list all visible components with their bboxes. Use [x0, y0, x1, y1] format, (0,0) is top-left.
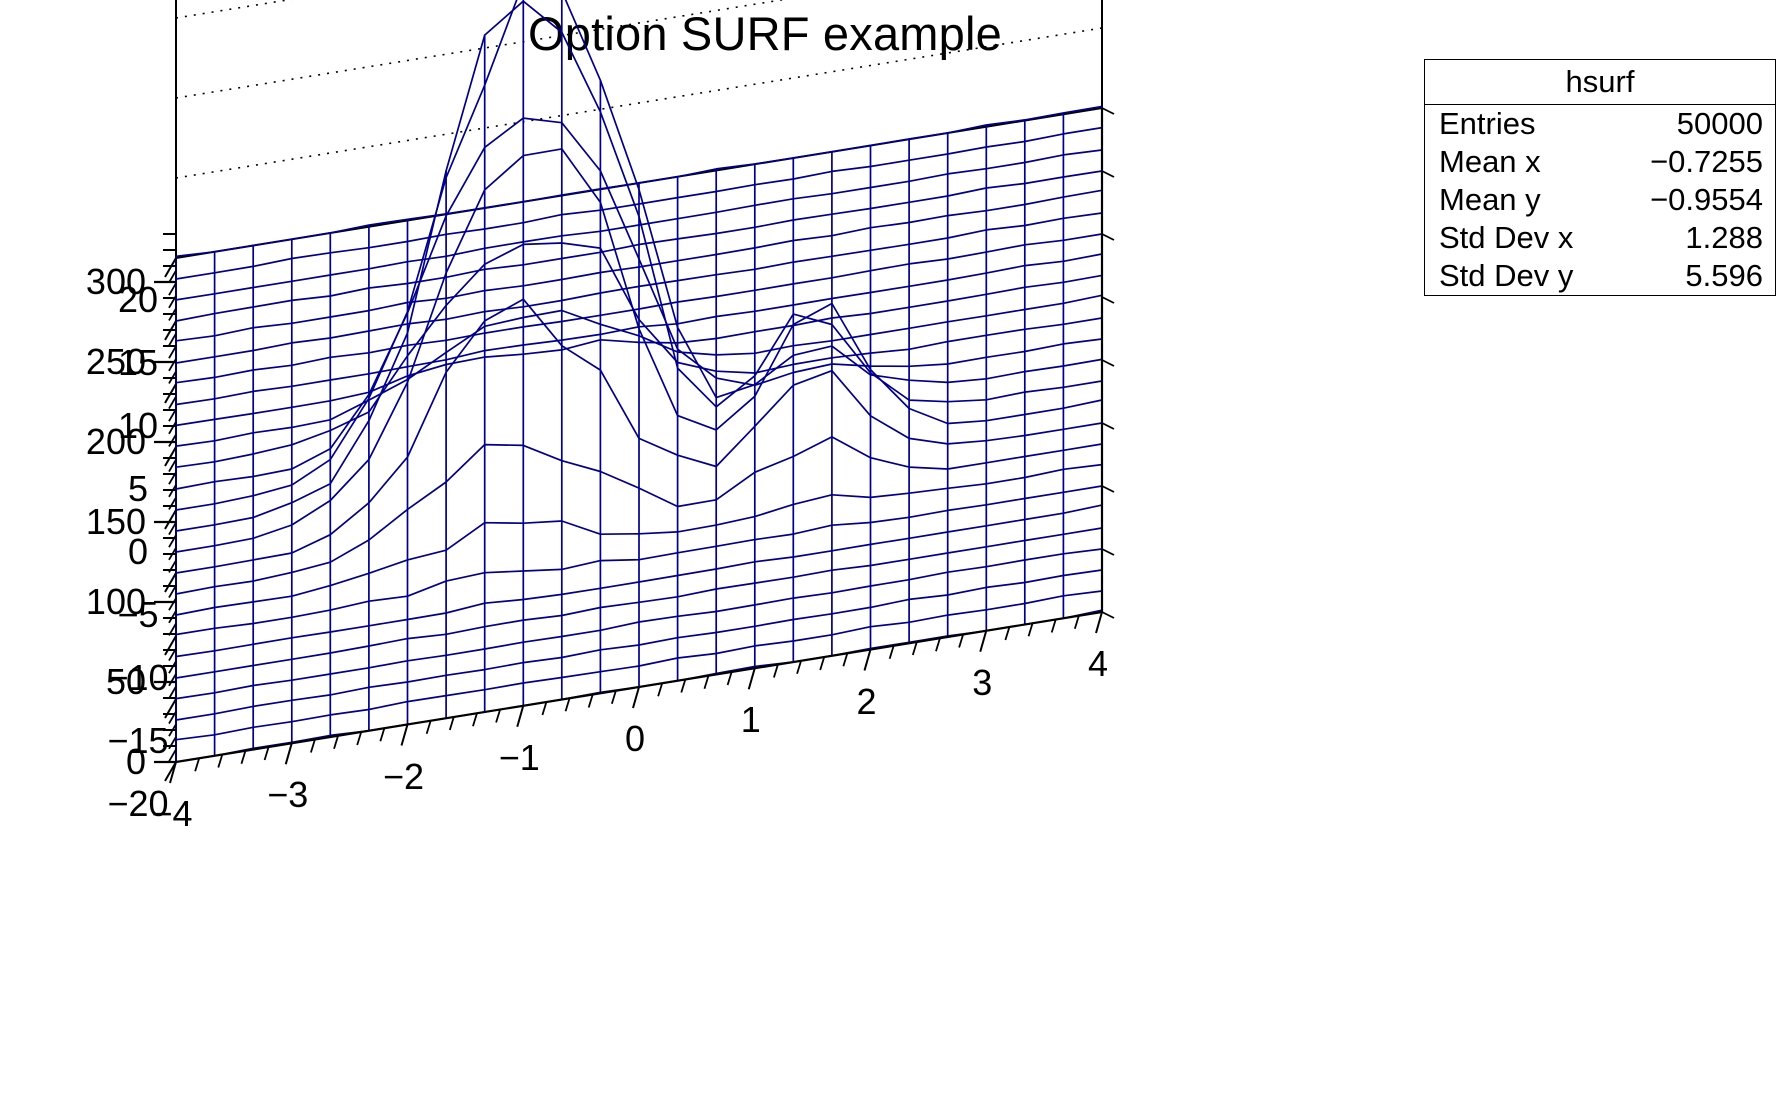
x-axis-tick-label: −2 — [383, 759, 424, 795]
x-axis-tick-label: 4 — [1088, 646, 1108, 682]
stats-row: Entries50000 — [1425, 105, 1775, 143]
y-axis-tick-label: 10 — [118, 408, 158, 444]
plot-line — [311, 740, 315, 753]
plot-line — [1102, 108, 1114, 114]
plot-line — [169, 434, 176, 446]
plot-line — [1075, 616, 1079, 629]
stats-title: hsurf — [1425, 60, 1775, 105]
plot-line — [843, 653, 847, 666]
plot-line — [542, 702, 546, 715]
plot-line — [169, 661, 176, 673]
y-axis-tick-label: 5 — [128, 471, 148, 507]
plot-line — [820, 657, 824, 670]
plot-line — [169, 460, 176, 472]
plot-line — [357, 732, 361, 745]
root-canvas: Option SURF example 05010015020025030020… — [0, 0, 1788, 1116]
plot-line — [241, 751, 245, 764]
plot-line — [1029, 623, 1033, 636]
plot-line — [1102, 423, 1114, 429]
plot-line — [1102, 612, 1114, 618]
plot-line — [980, 631, 986, 652]
x-axis-tick-label: 2 — [856, 684, 876, 720]
plot-line — [169, 686, 176, 698]
x-axis-tick-label: 1 — [741, 702, 761, 738]
stats-row-label: Std Dev x — [1439, 219, 1573, 257]
plot-line — [169, 611, 176, 623]
plot-line — [704, 676, 708, 689]
stats-row: Std Dev y5.596 — [1425, 257, 1775, 295]
plot-line — [517, 706, 523, 727]
plot-line — [1005, 627, 1009, 640]
stats-row: Std Dev x1.288 — [1425, 219, 1775, 257]
plot-line — [865, 650, 871, 671]
plot-line — [473, 713, 477, 726]
plot-line — [959, 635, 963, 648]
stats-row-value: −0.7255 — [1650, 143, 1763, 181]
surface-wireframe — [176, 0, 1102, 762]
y-axis-tick-label: −15 — [107, 723, 168, 759]
y-axis-tick-label: 0 — [128, 534, 148, 570]
x-axis-tick-label: 3 — [972, 665, 992, 701]
plot-line — [169, 422, 176, 434]
plot-line — [566, 698, 570, 711]
plot-line — [334, 736, 338, 749]
plot-line — [890, 646, 894, 659]
plot-line — [427, 721, 431, 734]
axis-ticks — [154, 108, 1114, 783]
plot-line — [169, 598, 176, 610]
plot-line — [169, 586, 176, 598]
plot-line — [913, 642, 917, 655]
plot-line — [797, 661, 801, 674]
plot-line — [402, 725, 408, 746]
plot-line — [218, 755, 222, 768]
stats-row-label: Std Dev y — [1439, 257, 1573, 295]
stats-row-label: Mean x — [1439, 143, 1541, 181]
plot-line — [633, 687, 639, 708]
plot-line — [176, 0, 1102, 98]
x-axis-tick-label: 0 — [625, 721, 645, 757]
plot-line — [496, 710, 500, 723]
plot-line — [1096, 612, 1102, 633]
plot-line — [749, 668, 755, 689]
plot-line — [1102, 297, 1114, 303]
stats-row-label: Entries — [1439, 105, 1535, 143]
plot-line — [380, 728, 384, 741]
y-axis-tick-label: −10 — [107, 660, 168, 696]
plot-line — [169, 359, 176, 371]
plot-line — [169, 346, 176, 358]
plot-line — [169, 334, 176, 346]
plot-line — [658, 683, 662, 696]
plot-line — [1102, 171, 1114, 177]
x-axis-tick-label: −3 — [267, 777, 308, 813]
plot-line — [1102, 486, 1114, 492]
plot-line — [612, 691, 616, 704]
plot-line — [286, 743, 292, 764]
stats-row-label: Mean y — [1439, 181, 1541, 219]
y-axis-tick-label: −5 — [117, 597, 158, 633]
plot-line — [169, 749, 176, 761]
y-axis-tick-label: 15 — [118, 345, 158, 381]
plot-line — [169, 283, 176, 295]
stats-row-value: 5.596 — [1685, 257, 1763, 295]
plot-line — [1102, 234, 1114, 240]
plot-line — [169, 397, 176, 409]
plot-line — [450, 717, 454, 730]
stats-box[interactable]: hsurf Entries50000Mean x−0.7255Mean y−0.… — [1424, 59, 1776, 296]
y-axis-tick-label: 20 — [118, 282, 158, 318]
plot-line — [1102, 360, 1114, 366]
x-axis-tick-label: −1 — [499, 740, 540, 776]
plot-line — [169, 523, 176, 535]
plot-line — [195, 758, 199, 771]
plot-line — [169, 271, 176, 283]
stats-row-value: 50000 — [1677, 105, 1763, 143]
plot-line — [1052, 620, 1056, 633]
plot-line — [681, 680, 685, 693]
plot-line — [265, 747, 269, 760]
plot-line — [176, 28, 1102, 178]
plot-line — [1102, 549, 1114, 555]
plot-line — [774, 665, 778, 678]
plot-line — [169, 497, 176, 509]
stats-row-value: −0.9554 — [1650, 181, 1763, 219]
stats-rows: Entries50000Mean x−0.7255Mean y−0.9554St… — [1425, 105, 1775, 295]
plot-line — [728, 672, 732, 685]
plot-line — [176, 0, 1102, 18]
stats-row: Mean x−0.7255 — [1425, 143, 1775, 181]
x-axis-tick-label: −4 — [151, 796, 192, 832]
plot-line — [589, 695, 593, 708]
stats-row: Mean y−0.9554 — [1425, 181, 1775, 219]
plot-line — [936, 638, 940, 651]
stats-row-value: 1.288 — [1685, 219, 1763, 257]
plot-line — [169, 674, 176, 686]
